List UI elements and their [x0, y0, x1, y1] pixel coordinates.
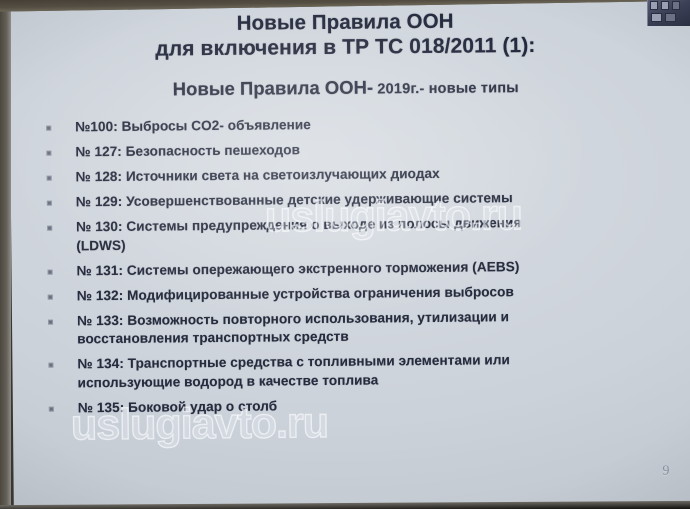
slide-subtitle-main: Новые Правила ООН- — [173, 77, 374, 100]
list-item: № 132: Модифицированные устройства огран… — [48, 281, 668, 305]
list-item: № 135: Боковой удар о столб — [49, 393, 669, 417]
wall-left-edge — [0, 6, 11, 509]
list-item-text: № 131: Системы опережающего экстренного … — [76, 256, 667, 280]
list-item-line-continued: восстановления транспортных средств — [77, 325, 668, 349]
list-item-line-continued: (LDWS) — [76, 231, 667, 255]
list-item: № 129: Усовершенствованные детские удерж… — [47, 188, 667, 212]
square-bullet-icon — [48, 269, 53, 274]
device-led — [672, 1, 680, 10]
list-item: №100: Выбросы CO2- объявление — [46, 113, 666, 137]
square-bullet-icon — [47, 176, 52, 181]
list-item-text: № 132: Модифицированные устройства огран… — [77, 281, 668, 305]
list-item-line: № 128: Источники света на светоизлучающи… — [76, 166, 440, 184]
list-item-text: № 127: Безопасность пешеходов — [75, 138, 666, 162]
photographed-slide-photo: Новые Правила ООН для включения в ТР ТС … — [0, 0, 690, 509]
square-bullet-icon — [46, 126, 51, 131]
list-item-line: № 127: Безопасность пешеходов — [75, 142, 300, 159]
square-bullet-icon — [46, 151, 51, 156]
list-item: № 134: Транспортные средства с топливным… — [48, 350, 668, 393]
bullet-list: №100: Выбросы CO2- объявление № 127: Без… — [46, 113, 669, 424]
list-item-text: № 128: Источники света на светоизлучающи… — [76, 163, 667, 187]
device-led — [651, 13, 662, 22]
square-bullet-icon — [48, 319, 53, 324]
square-bullet-icon — [48, 294, 53, 299]
list-item: № 133: Возможность повторного использова… — [48, 306, 668, 349]
list-item-text: № 135: Боковой удар о столб — [78, 393, 669, 417]
slide-title-line-2: для включения в ТР ТС 018/2011 (1): — [9, 32, 681, 63]
square-bullet-icon — [48, 363, 53, 368]
presentation-slide: Новые Правила ООН для включения в ТР ТС … — [9, 0, 690, 508]
device-led — [661, 1, 669, 10]
device-indicator-row-top — [650, 1, 680, 10]
list-item-line-continued: использующие водород в качестве топлива — [78, 368, 669, 392]
list-item-line: № 134: Транспортные средства с топливным… — [77, 352, 510, 371]
list-item-text: № 134: Транспортные средства с топливным… — [77, 350, 668, 393]
list-item-line: № 132: Модифицированные устройства огран… — [77, 284, 514, 303]
list-item: № 130: Системы предупреждения о выходе и… — [47, 213, 667, 256]
device-led — [665, 13, 676, 22]
slide-subtitle: Новые Правила ООН- 2019г.- новые типы — [10, 74, 682, 102]
list-item: № 127: Безопасность пешеходов — [46, 138, 666, 162]
square-bullet-icon — [47, 201, 52, 206]
device-indicator-row-bottom — [651, 13, 676, 22]
list-item: № 131: Системы опережающего экстренного … — [47, 256, 667, 280]
slide-subtitle-note: 2019г.- новые типы — [373, 80, 519, 97]
list-item-text: № 130: Системы предупреждения о выходе и… — [76, 213, 667, 256]
list-item-line: № 130: Системы предупреждения о выходе и… — [76, 215, 521, 234]
square-bullet-icon — [49, 406, 54, 411]
list-item-line: № 135: Боковой удар о столб — [78, 398, 277, 415]
list-item-text: №100: Выбросы CO2- объявление — [75, 113, 666, 137]
list-item-text: № 129: Усовершенствованные детские удерж… — [76, 188, 667, 212]
square-bullet-icon — [47, 226, 52, 231]
wall-mounted-device-icon — [647, 0, 690, 26]
slide-page-number: 9 — [662, 464, 669, 480]
list-item: № 128: Источники света на светоизлучающи… — [47, 163, 667, 187]
slide-title: Новые Правила ООН для включения в ТР ТС … — [9, 7, 681, 63]
list-item-line: № 133: Возможность повторного использова… — [77, 309, 509, 328]
list-item-line: № 131: Системы опережающего экстренного … — [76, 259, 519, 278]
list-item-line: № 129: Усовершенствованные детские удерж… — [76, 190, 513, 209]
device-led — [650, 1, 658, 10]
list-item-text: № 133: Возможность повторного использова… — [77, 306, 668, 349]
list-item-line: №100: Выбросы CO2- объявление — [75, 117, 311, 134]
